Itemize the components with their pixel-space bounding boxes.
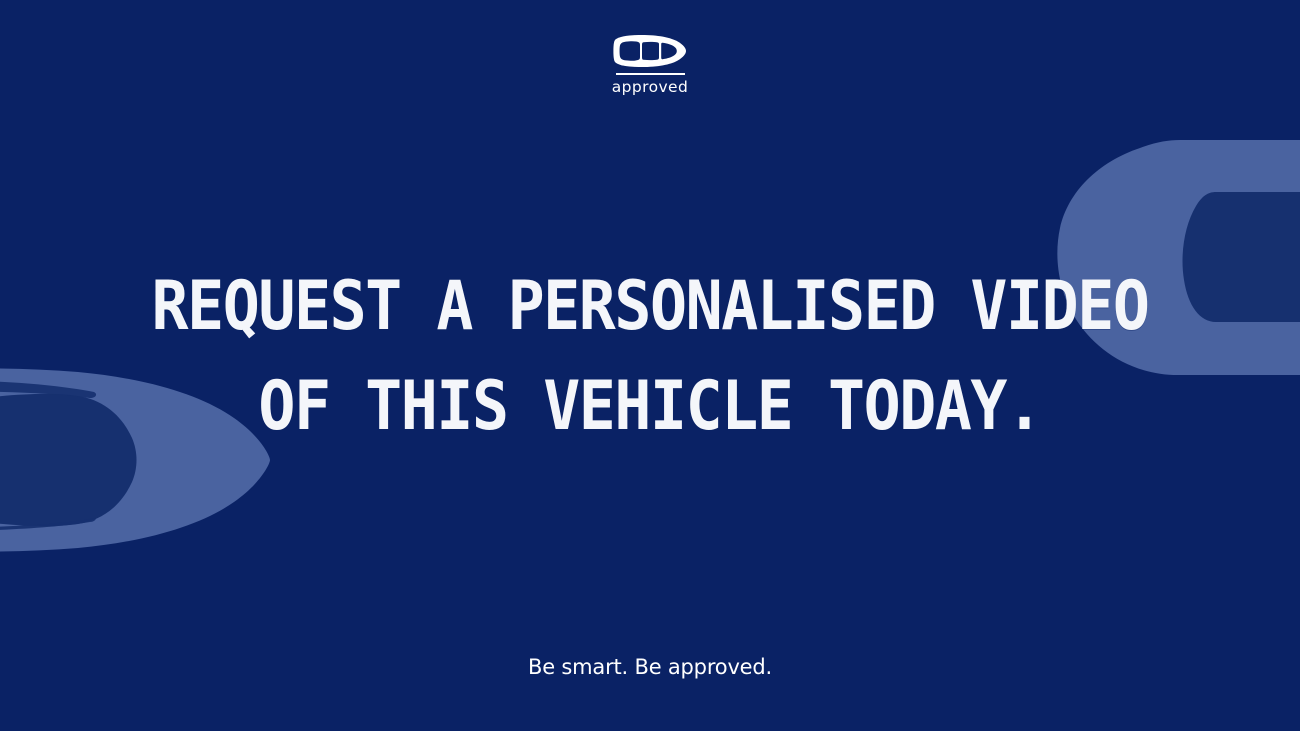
- headline-line-2: OF THIS VEHICLE TODAY.: [62, 368, 1239, 446]
- promo-banner: approved REQUEST A PERSONALISED VIDEO OF…: [0, 0, 1300, 731]
- logo-divider: [616, 73, 685, 75]
- page-title: REQUEST A PERSONALISED VIDEO OF THIS VEH…: [0, 268, 1300, 446]
- brand-logo: approved: [0, 34, 1300, 97]
- tagline: Be smart. Be approved.: [0, 654, 1300, 680]
- headline-line-1: REQUEST A PERSONALISED VIDEO: [62, 268, 1239, 346]
- car-top-view-icon: [613, 34, 687, 68]
- logo-wordmark: approved: [612, 79, 688, 97]
